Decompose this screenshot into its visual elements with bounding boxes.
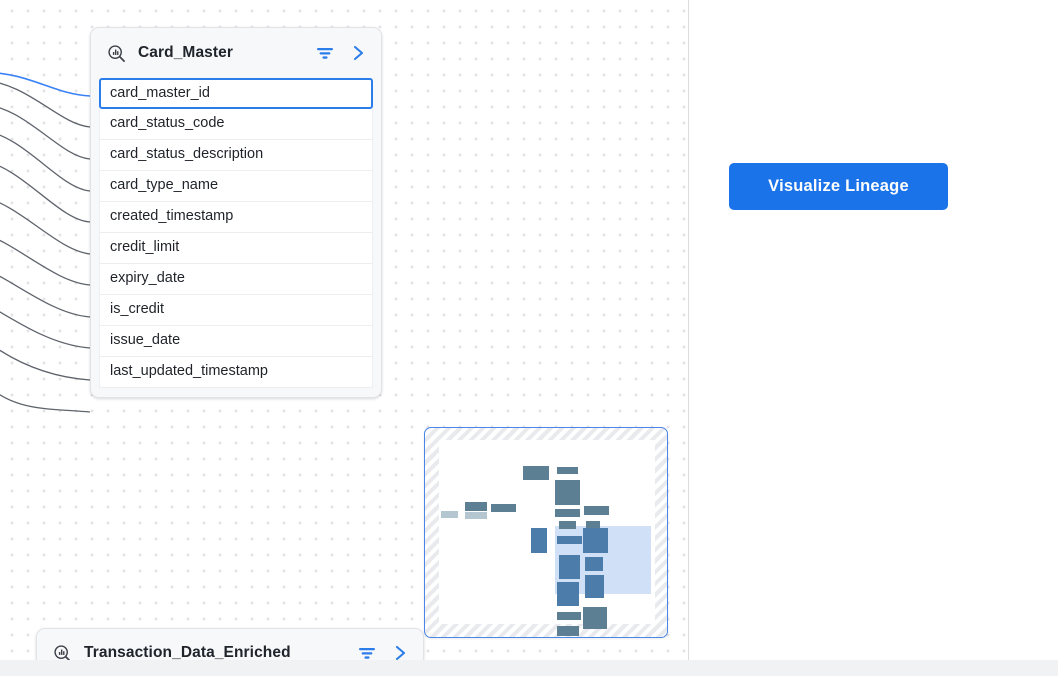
edge-line xyxy=(0,80,90,127)
field-list: card_master_id card_status_code card_sta… xyxy=(91,78,381,397)
edge-line xyxy=(0,232,90,285)
field-row[interactable]: is_credit xyxy=(99,295,373,326)
lineage-canvas[interactable]: Card_Master card_master_id card_sta xyxy=(0,0,688,660)
minimap-node xyxy=(557,536,582,544)
minimap-node xyxy=(555,480,580,505)
node-title: Card_Master xyxy=(138,44,315,62)
edge-line xyxy=(0,378,90,412)
table-node-card-master[interactable]: Card_Master card_master_id card_sta xyxy=(90,27,382,398)
field-row[interactable]: card_type_name xyxy=(99,171,373,202)
side-panel: Visualize Lineage xyxy=(689,0,1058,660)
field-row[interactable]: created_timestamp xyxy=(99,202,373,233)
edge-line xyxy=(0,104,90,159)
edge-line xyxy=(0,266,90,317)
minimap-node xyxy=(531,528,547,553)
minimap-node xyxy=(555,509,580,517)
minimap-node xyxy=(441,511,458,518)
magnifier-chart-icon[interactable] xyxy=(53,644,72,661)
edge-line xyxy=(0,336,90,380)
minimap-node xyxy=(583,607,607,629)
edge-line xyxy=(0,300,90,348)
minimap-node xyxy=(559,555,580,579)
edge-line xyxy=(0,196,90,254)
minimap-node xyxy=(557,626,579,636)
filter-icon[interactable] xyxy=(315,45,335,61)
filter-icon[interactable] xyxy=(357,645,377,660)
minimap-node xyxy=(491,504,516,512)
node-header[interactable]: Transaction_Data_Enriched xyxy=(37,629,423,660)
edge-line xyxy=(0,130,90,191)
minimap-node xyxy=(557,467,578,474)
minimap-node xyxy=(583,528,608,553)
edge-line xyxy=(0,160,90,222)
lineage-app: Card_Master card_master_id card_sta xyxy=(0,0,1058,676)
minimap-node xyxy=(523,466,549,480)
field-row[interactable]: last_updated_timestamp xyxy=(99,357,373,388)
field-row[interactable]: issue_date xyxy=(99,326,373,357)
minimap-node xyxy=(584,506,609,515)
field-row[interactable]: credit_limit xyxy=(99,233,373,264)
minimap-node xyxy=(585,575,604,598)
visualize-lineage-button[interactable]: Visualize Lineage xyxy=(729,163,948,210)
field-row[interactable]: card_status_code xyxy=(99,109,373,140)
minimap-inner[interactable] xyxy=(439,440,655,624)
edge-highlight xyxy=(0,72,90,96)
minimap-node xyxy=(465,502,487,511)
table-node-transaction-data-enriched[interactable]: Transaction_Data_Enriched xyxy=(36,628,424,660)
minimap-node xyxy=(559,521,576,529)
node-title: Transaction_Data_Enriched xyxy=(84,644,357,660)
minimap-node xyxy=(557,612,581,620)
bottom-strip xyxy=(0,660,1058,676)
field-row[interactable]: card_status_description xyxy=(99,140,373,171)
magnifier-chart-icon[interactable] xyxy=(107,44,126,63)
field-row-selected[interactable]: card_master_id xyxy=(99,78,373,109)
chevron-right-icon[interactable] xyxy=(351,44,367,62)
minimap[interactable] xyxy=(424,427,668,638)
minimap-node xyxy=(585,557,603,571)
field-row[interactable]: expiry_date xyxy=(99,264,373,295)
minimap-node xyxy=(557,582,579,606)
node-header[interactable]: Card_Master xyxy=(91,28,381,78)
chevron-right-icon[interactable] xyxy=(393,644,409,660)
minimap-node xyxy=(465,512,487,519)
